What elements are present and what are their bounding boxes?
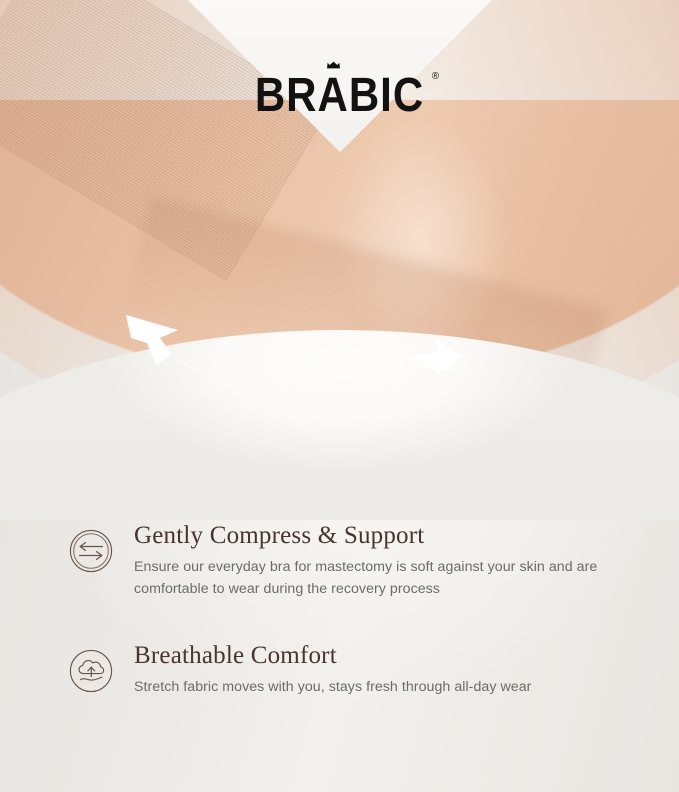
stretch-arrow-left-head [126, 315, 178, 365]
compress-arrows-icon [68, 528, 114, 574]
feature-description: Stretch fabric moves with you, stays fre… [134, 677, 633, 699]
brand-logo: BRABIC® [0, 74, 679, 116]
feature-text-breathable: Breathable Comfort Stretch fabric moves … [134, 642, 633, 699]
feature-title: Breathable Comfort [134, 642, 633, 670]
brand-text-part-2: BIC [349, 68, 424, 122]
hero-product-photo: BRABIC® [0, 0, 679, 520]
product-feature-image: BRABIC® Gently Compress & Support Ensure… [0, 0, 679, 792]
feature-text-compress: Gently Compress & Support Ensure our eve… [134, 522, 633, 600]
feature-item-compress: Gently Compress & Support Ensure our eve… [0, 522, 679, 600]
brand-accented-a: A [317, 71, 348, 119]
feature-title: Gently Compress & Support [134, 522, 633, 550]
brand-text-part-1: BR [255, 68, 318, 122]
feature-item-breathable: Breathable Comfort Stretch fabric moves … [0, 642, 679, 699]
registered-trademark-icon: ® [432, 72, 439, 82]
breathable-cloud-icon [68, 648, 114, 694]
feature-description: Ensure our everyday bra for mastectomy i… [134, 557, 633, 600]
feature-list: Gently Compress & Support Ensure our eve… [0, 522, 679, 741]
stretch-arrow-right-head [416, 339, 462, 375]
crown-accent-icon [326, 61, 341, 69]
brand-wordmark: BRABIC® [255, 71, 424, 119]
brand-letter-a: A [317, 68, 348, 122]
